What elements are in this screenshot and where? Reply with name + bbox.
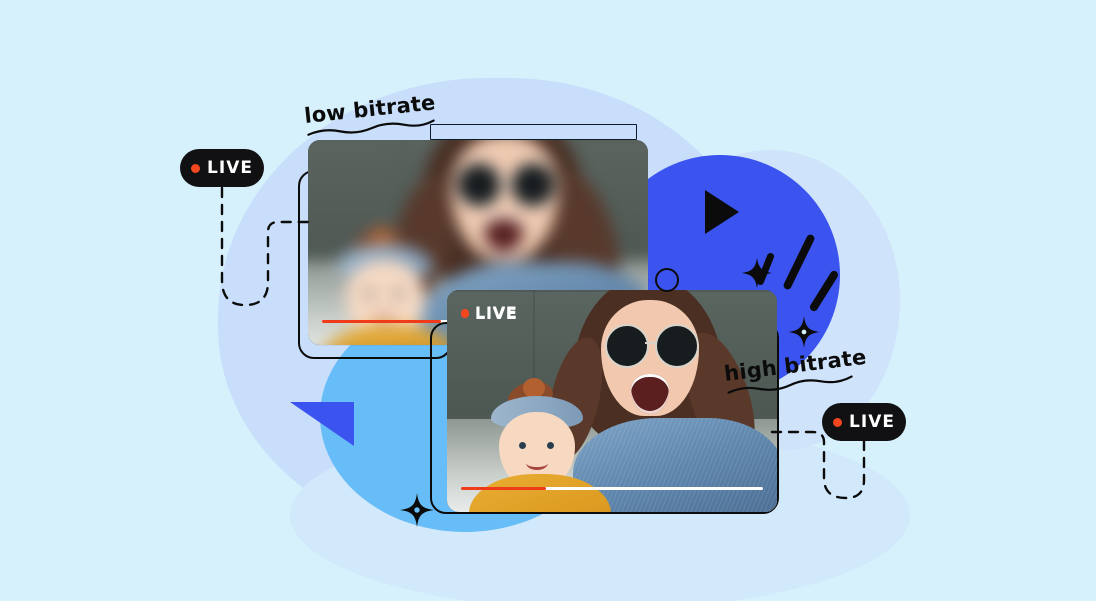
live-badge-left[interactable]: LIVE xyxy=(180,149,264,187)
dashed-connector-paths xyxy=(0,0,1096,601)
sparkle-icon xyxy=(742,258,772,288)
sparkle-icon xyxy=(788,316,820,348)
circle-outline-icon xyxy=(655,268,679,292)
live-badge-left-label: LIVE xyxy=(207,158,253,178)
live-dot-icon xyxy=(833,418,842,427)
play-triangle-icon xyxy=(705,190,739,234)
live-dot-icon xyxy=(191,164,200,173)
dashed-path-right xyxy=(770,432,864,498)
live-badge-right-label: LIVE xyxy=(849,412,895,432)
dashed-path-left xyxy=(222,188,310,305)
sparkle-icon xyxy=(400,493,434,527)
live-badge-right[interactable]: LIVE xyxy=(822,403,906,441)
blue-triangle-icon xyxy=(290,402,354,446)
illustration-canvas: LIVE LIVE LIVE LIVE low bitrate high bit… xyxy=(0,0,1096,601)
